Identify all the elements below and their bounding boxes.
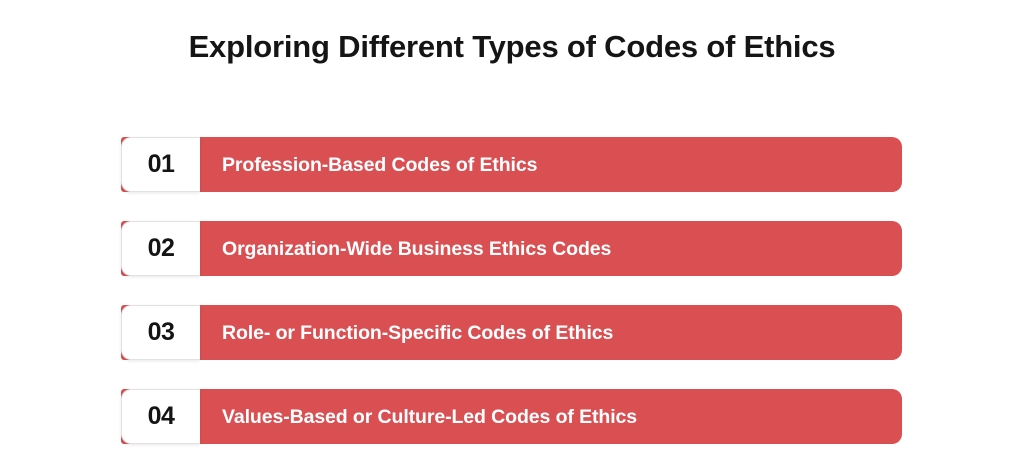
item-label: Values-Based or Culture-Led Codes of Eth… bbox=[222, 405, 637, 429]
list-item[interactable]: 04 Values-Based or Culture-Led Codes of … bbox=[121, 389, 902, 444]
item-label-container: Organization-Wide Business Ethics Codes bbox=[200, 221, 902, 276]
item-number-badge: 03 bbox=[121, 305, 200, 360]
item-number-badge: 02 bbox=[121, 221, 200, 276]
item-number-badge: 04 bbox=[121, 389, 200, 444]
list-item[interactable]: 02 Organization-Wide Business Ethics Cod… bbox=[121, 221, 902, 276]
title-block: Exploring Different Types of Codes of Et… bbox=[0, 26, 1024, 68]
item-label-container: Profession-Based Codes of Ethics bbox=[200, 137, 902, 192]
item-number: 04 bbox=[148, 404, 175, 429]
list-item[interactable]: 03 Role- or Function-Specific Codes of E… bbox=[121, 305, 902, 360]
item-number-badge: 01 bbox=[121, 137, 200, 192]
item-label-container: Role- or Function-Specific Codes of Ethi… bbox=[200, 305, 902, 360]
item-number: 02 bbox=[148, 236, 175, 261]
list-item[interactable]: 01 Profession-Based Codes of Ethics bbox=[121, 137, 902, 192]
numbered-bar-list: 01 Profession-Based Codes of Ethics 02 O… bbox=[121, 137, 902, 444]
item-number: 03 bbox=[148, 320, 175, 345]
item-label: Role- or Function-Specific Codes of Ethi… bbox=[222, 321, 613, 345]
item-label-container: Values-Based or Culture-Led Codes of Eth… bbox=[200, 389, 902, 444]
item-number: 01 bbox=[148, 152, 175, 177]
infographic-canvas: Exploring Different Types of Codes of Et… bbox=[0, 0, 1024, 466]
item-label: Organization-Wide Business Ethics Codes bbox=[222, 237, 611, 261]
page-title: Exploring Different Types of Codes of Et… bbox=[189, 26, 836, 68]
item-label: Profession-Based Codes of Ethics bbox=[222, 153, 537, 177]
